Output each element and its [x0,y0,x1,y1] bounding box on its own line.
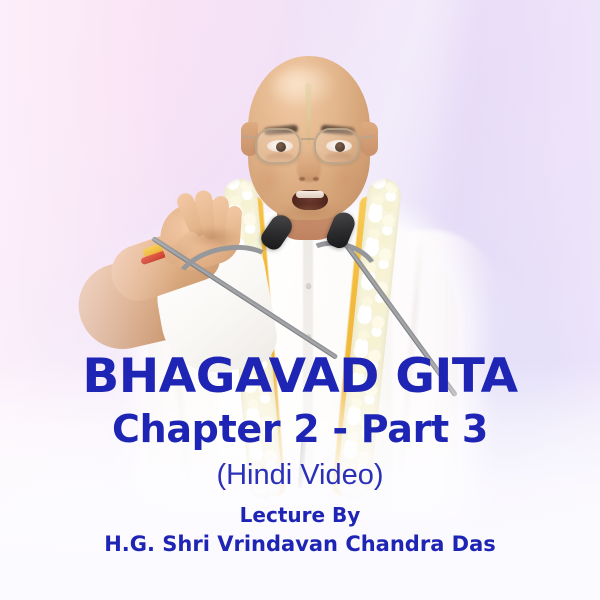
poster-language-note: (Hindi Video) [0,456,600,494]
poster-subtitle: Chapter 2 - Part 3 [0,406,600,452]
poster-title: BHAGAVAD GITA [0,350,600,404]
lecture-by-label: Lecture By [0,502,600,529]
upper-teeth [296,191,324,198]
cheek-right [330,160,360,198]
nostril-right [313,177,319,181]
poster-canvas: BHAGAVAD GITA Chapter 2 - Part 3 (Hindi … [0,0,600,600]
forehead-highlight [272,66,338,110]
speaker-name: H.G. Shri Vrindavan Chandra Das [0,530,600,558]
poster-text-block: BHAGAVAD GITA Chapter 2 - Part 3 (Hindi … [0,350,600,558]
eyeglasses-bridge [301,138,314,140]
eyeglasses-lens-left [255,128,301,164]
ear-right [361,122,378,156]
cheek-left [254,160,284,198]
nostril-left [299,177,305,181]
